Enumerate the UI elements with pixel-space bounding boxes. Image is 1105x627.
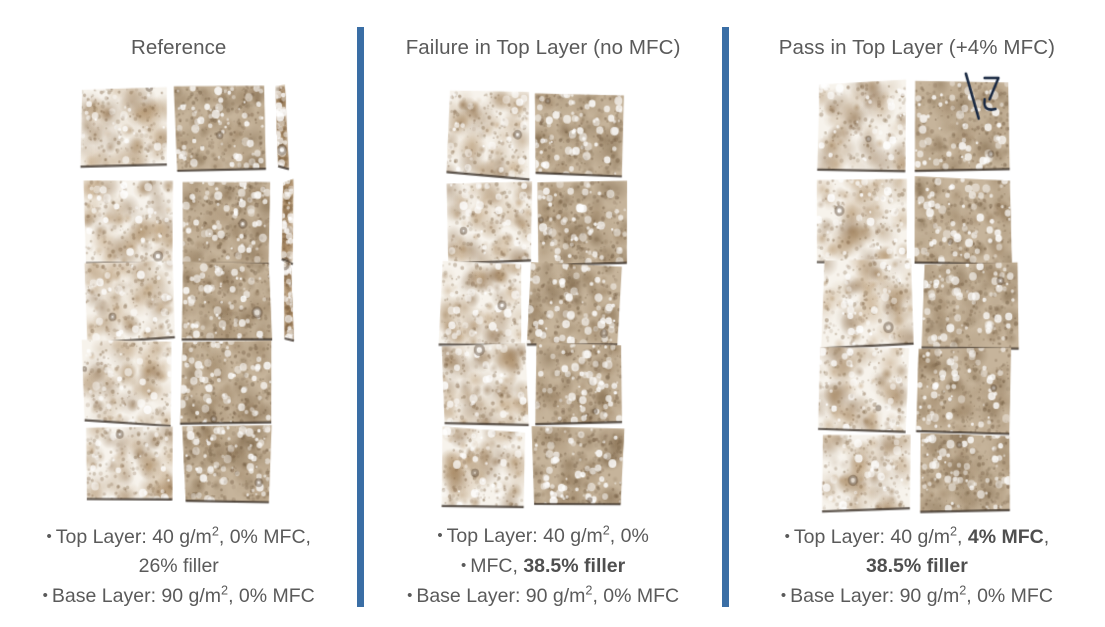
bullet-icon: • [461, 557, 470, 574]
figure-root: Reference •Top Layer: 40 g/m2, 0% MFC,26… [0, 0, 1105, 627]
column-failure: Failure in Top Layer (no MFC) •Top Layer… [364, 0, 721, 627]
spec-line: •MFC, 38.5% filler [374, 551, 711, 581]
spec-list-pass: •Top Layer: 40 g/m2, 4% MFC,38.5% filler… [729, 522, 1105, 627]
spec-emphasis: 38.5% filler [866, 555, 968, 577]
sample-photo-pass [729, 63, 1105, 522]
unit-exponent: 2 [603, 524, 610, 538]
unit-exponent: 2 [950, 525, 957, 539]
spec-text: , 0% MFC, [219, 526, 311, 548]
bullet-icon: • [781, 587, 790, 604]
spec-line: •Base Layer: 90 g/m2, 0% MFC [10, 581, 347, 611]
spec-line: 38.5% filler [739, 552, 1095, 581]
spec-text: , 0% MFC [592, 585, 679, 607]
column-heading-pass: Pass in Top Layer (+4% MFC) [779, 0, 1055, 63]
spec-text: 26% filler [139, 555, 219, 577]
spec-emphasis: 4% MFC [968, 526, 1044, 548]
spec-text: , [957, 526, 968, 548]
spec-line: •Top Layer: 40 g/m2, 0% MFC, [10, 522, 347, 552]
spec-text: , 0% MFC [228, 585, 315, 607]
spec-text: Top Layer: 40 g/m [56, 526, 212, 548]
spec-list-failure: •Top Layer: 40 g/m2, 0%•MFC, 38.5% fille… [364, 521, 721, 627]
paper-sample-photo [729, 63, 1105, 522]
bullet-icon: • [43, 587, 52, 604]
spec-text: , [1044, 526, 1049, 548]
spec-text: Base Layer: 90 g/m [52, 585, 221, 607]
paper-sample-photo [364, 63, 721, 521]
unit-exponent: 2 [221, 584, 228, 598]
column-divider-1 [357, 27, 364, 607]
bullet-icon: • [46, 528, 55, 545]
spec-emphasis: 38.5% filler [523, 555, 625, 577]
spec-text: Base Layer: 90 g/m [790, 585, 959, 607]
spec-list-reference: •Top Layer: 40 g/m2, 0% MFC,26% filler•B… [0, 522, 357, 627]
spec-line: •Base Layer: 90 g/m2, 0% MFC [739, 581, 1095, 611]
bullet-icon: • [437, 527, 446, 544]
spec-line: •Base Layer: 90 g/m2, 0% MFC [374, 581, 711, 611]
column-reference: Reference •Top Layer: 40 g/m2, 0% MFC,26… [0, 0, 357, 627]
bullet-icon: • [785, 528, 794, 545]
unit-exponent: 2 [212, 525, 219, 539]
spec-text: , 0% [610, 525, 649, 547]
column-heading-failure: Failure in Top Layer (no MFC) [406, 0, 681, 63]
spec-text: , 0% MFC [966, 585, 1053, 607]
column-heading-reference: Reference [131, 0, 226, 63]
sample-photo-reference [0, 63, 357, 522]
spec-text: MFC, [470, 555, 523, 577]
paper-sample-photo [0, 63, 357, 522]
column-divider-2 [722, 27, 729, 607]
spec-text: Top Layer: 40 g/m [447, 525, 603, 547]
bullet-icon: • [407, 587, 416, 604]
sample-photo-failure [364, 63, 721, 521]
column-pass: Pass in Top Layer (+4% MFC) •Top Layer: … [729, 0, 1105, 627]
spec-text: Base Layer: 90 g/m [416, 585, 585, 607]
spec-line: •Top Layer: 40 g/m2, 0% [374, 521, 711, 551]
spec-text: Top Layer: 40 g/m [794, 526, 950, 548]
spec-line: 26% filler [10, 552, 347, 581]
spec-line: •Top Layer: 40 g/m2, 4% MFC, [739, 522, 1095, 552]
